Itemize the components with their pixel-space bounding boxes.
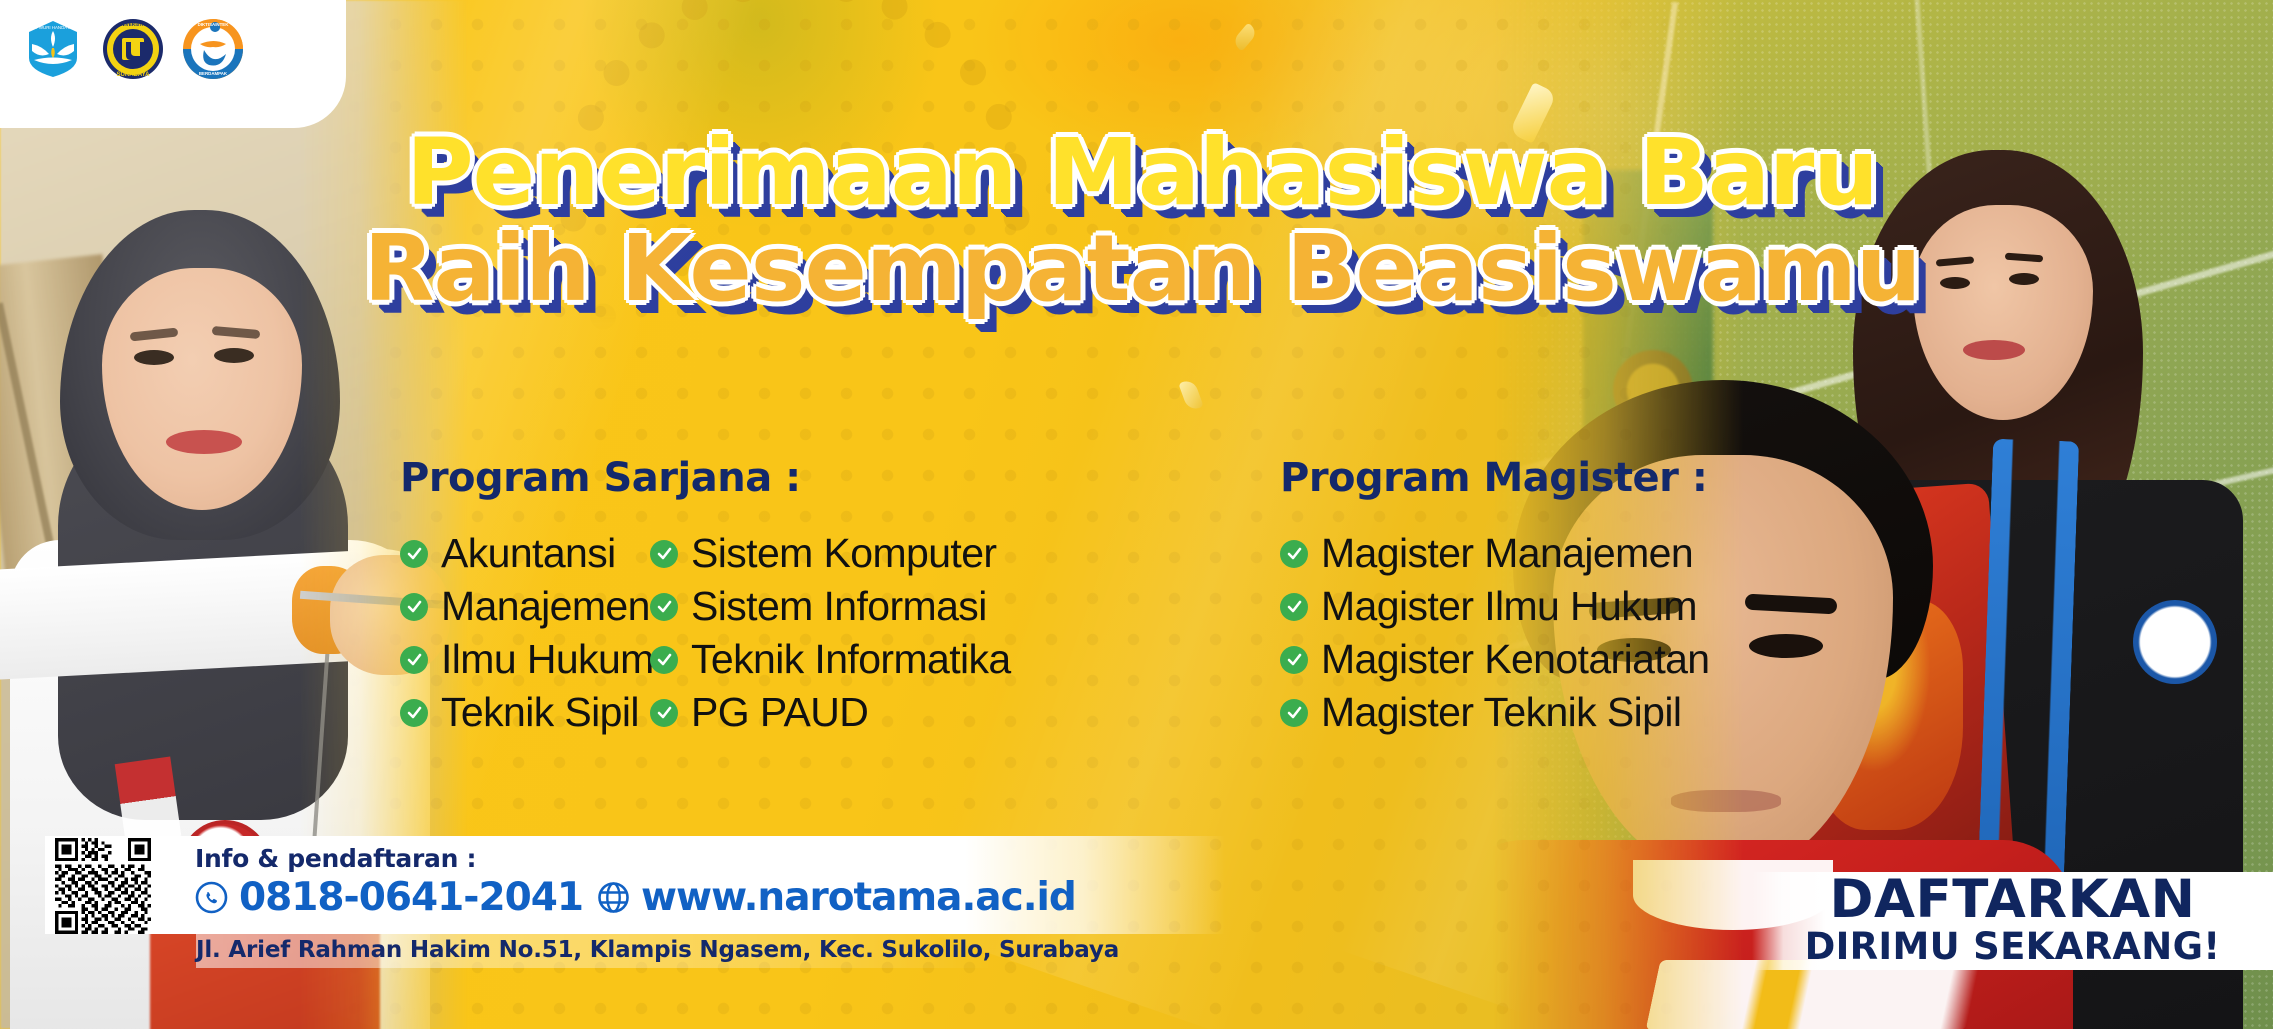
program-sarjana-title: Program Sarjana :: [400, 455, 1280, 501]
list-item-label: Magister Teknik Sipil: [1321, 689, 1681, 736]
address-text: Jl. Arief Rahman Hakim No.51, Klampis Ng…: [196, 937, 1119, 963]
list-item-label: Sistem Informasi: [691, 583, 987, 630]
program-magister-list: Magister Manajemen Magister Ilmu Hukum M…: [1280, 527, 1710, 739]
list-item: Magister Ilmu Hukum: [1280, 580, 1710, 633]
check-circle-icon: [650, 646, 678, 674]
list-item-label: Manajemen: [441, 583, 650, 630]
check-circle-icon: [400, 540, 428, 568]
program-sarjana-column-right: Sistem Komputer Sistem Informasi Teknik …: [650, 527, 1011, 739]
check-circle-icon: [1280, 699, 1308, 727]
check-circle-icon: [400, 646, 428, 674]
registration-qr-code[interactable]: [55, 838, 151, 934]
website-url: www.narotama.ac.id: [641, 875, 1076, 920]
list-item: Teknik Sipil: [400, 686, 650, 739]
institution-logo-panel: TUT WURI HANDAYANI UNIVERSITAS SURABAYA: [0, 0, 346, 128]
phone-number: 0818-0641-2041: [239, 875, 583, 920]
info-content: Info & pendaftaran : 0818-0641-2041 www.…: [195, 844, 1076, 920]
headline-line-1: Penerimaan Mahasiswa Baru: [322, 128, 1962, 218]
website-contact[interactable]: www.narotama.ac.id: [597, 875, 1076, 920]
male-athlete-lips: [1671, 790, 1781, 812]
female-athlete-eye: [2009, 273, 2039, 285]
check-circle-icon: [400, 593, 428, 621]
check-circle-icon: [1280, 646, 1308, 674]
cta-line-1: DAFTARKAN: [1829, 875, 2195, 925]
info-label: Info & pendaftaran :: [195, 844, 1076, 873]
list-item-label: Teknik Informatika: [691, 636, 1011, 683]
program-magister-columns: Magister Manajemen Magister Ilmu Hukum M…: [1280, 527, 1900, 739]
list-item-label: Magister Ilmu Hukum: [1321, 583, 1697, 630]
svg-text:TUT WURI HANDAYANI: TUT WURI HANDAYANI: [29, 25, 77, 30]
universitas-narotama-logo: UNIVERSITAS SURABAYA: [102, 18, 164, 80]
list-item: Sistem Informasi: [650, 580, 1011, 633]
contact-row: 0818-0641-2041 www.narotama.ac.id: [195, 875, 1076, 920]
list-item: Ilmu Hukum: [400, 633, 650, 686]
list-item-label: Teknik Sipil: [441, 689, 639, 736]
archer-eye: [134, 350, 174, 365]
list-item-label: Ilmu Hukum: [441, 636, 654, 683]
check-circle-icon: [650, 699, 678, 727]
list-item-label: Sistem Komputer: [691, 530, 996, 577]
program-sarjana-section: Program Sarjana : Akuntansi Manajemen Il…: [400, 455, 1280, 739]
check-circle-icon: [650, 593, 678, 621]
tut-wuri-handayani-logo: TUT WURI HANDAYANI: [22, 18, 84, 80]
program-lists: Program Sarjana : Akuntansi Manajemen Il…: [400, 455, 1900, 739]
list-item-label: Magister Manajemen: [1321, 530, 1693, 577]
archer-eye: [214, 348, 254, 363]
list-item: Manajemen: [400, 580, 650, 633]
svg-text:DIKTISAINTEK: DIKTISAINTEK: [198, 22, 230, 27]
program-sarjana-column-left: Akuntansi Manajemen Ilmu Hukum Teknik Si…: [400, 527, 650, 739]
svg-text:BERDAMPAK: BERDAMPAK: [199, 71, 228, 76]
list-item: Magister Manajemen: [1280, 527, 1710, 580]
list-item: Akuntansi: [400, 527, 650, 580]
headline: Penerimaan Mahasiswa Baru Raih Kesempata…: [322, 128, 1962, 314]
list-item: Magister Kenotariatan: [1280, 633, 1710, 686]
program-magister-title: Program Magister :: [1280, 455, 1900, 501]
diktisaintek-berdampak-logo: DIKTISAINTEK BERDAMPAK: [182, 18, 244, 80]
jacket-badge: [2133, 600, 2217, 684]
archer-lips: [166, 430, 242, 454]
list-item: Magister Teknik Sipil: [1280, 686, 1710, 739]
list-item-label: Akuntansi: [441, 530, 616, 577]
list-item: Teknik Informatika: [650, 633, 1011, 686]
list-item-label: PG PAUD: [691, 689, 868, 736]
svg-text:SURABAYA: SURABAYA: [117, 72, 151, 78]
cta-line-2: DIRIMU SEKARANG!: [1805, 928, 2221, 967]
cta-panel[interactable]: DAFTARKAN DIRIMU SEKARANG!: [1752, 872, 2273, 970]
whatsapp-icon: [195, 881, 228, 914]
check-circle-icon: [650, 540, 678, 568]
logo-row: TUT WURI HANDAYANI UNIVERSITAS SURABAYA: [0, 0, 346, 80]
check-circle-icon: [1280, 540, 1308, 568]
check-circle-icon: [1280, 593, 1308, 621]
jersey-sponsor-logo: [1646, 960, 1981, 1029]
check-circle-icon: [400, 699, 428, 727]
svg-text:UNIVERSITAS: UNIVERSITAS: [118, 22, 149, 27]
headline-line-2: Raih Kesempatan Beasiswamu: [322, 224, 1962, 314]
program-magister-section: Program Magister : Magister Manajemen Ma…: [1280, 455, 1900, 739]
list-item: Sistem Komputer: [650, 527, 1011, 580]
list-item: PG PAUD: [650, 686, 1011, 739]
list-item-label: Magister Kenotariatan: [1321, 636, 1710, 683]
program-sarjana-columns: Akuntansi Manajemen Ilmu Hukum Teknik Si…: [400, 527, 1280, 739]
female-athlete-lips: [1963, 340, 2025, 360]
pmb-promo-banner: TUT WURI HANDAYANI UNIVERSITAS SURABAYA: [0, 0, 2273, 1029]
globe-icon: [597, 881, 630, 914]
info-card: Info & pendaftaran : 0818-0641-2041 www.…: [45, 836, 1225, 934]
indonesia-flag-patch: [115, 756, 182, 843]
phone-contact[interactable]: 0818-0641-2041: [195, 875, 583, 920]
address-bar: Jl. Arief Rahman Hakim No.51, Klampis Ng…: [196, 932, 996, 968]
